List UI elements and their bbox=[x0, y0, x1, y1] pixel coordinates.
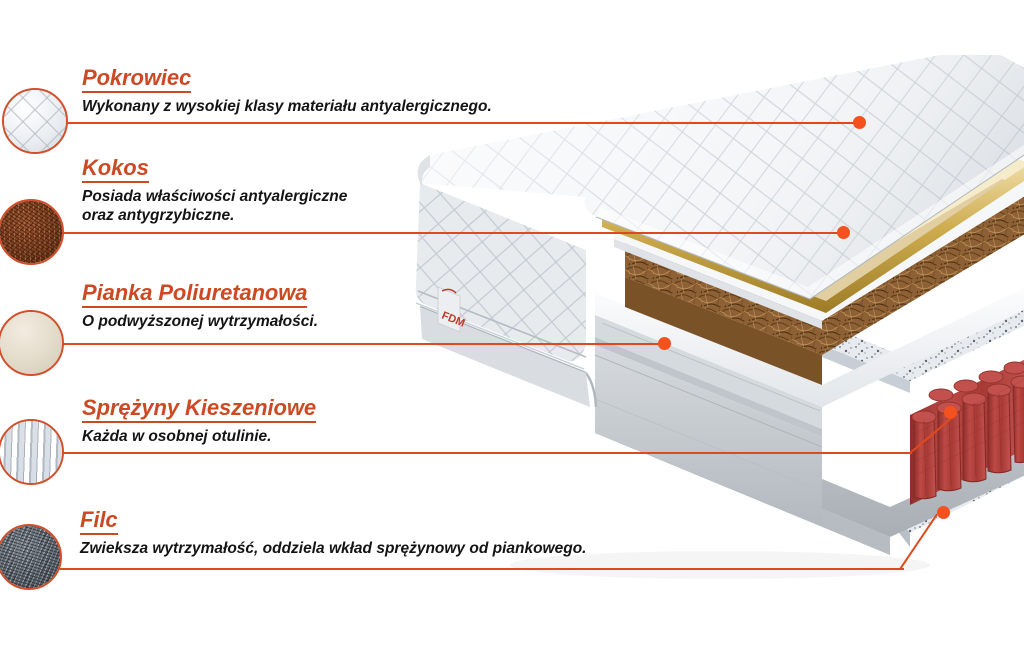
callout-dot-filc bbox=[937, 506, 950, 519]
swatch-pokrowiec bbox=[2, 88, 68, 154]
layer-description-pianka-poliuretanowa: O podwyższonej wytrzymałości. bbox=[82, 312, 318, 331]
label-block-pianka-poliuretanowa: Pianka Poliuretanowa O podwyższonej wytr… bbox=[82, 281, 318, 331]
felt-swatch-icon bbox=[0, 526, 60, 588]
callout-line-pokrowiec bbox=[64, 122, 860, 124]
layer-description-kokos: Posiada właściwości antyalergiczne oraz … bbox=[82, 187, 347, 226]
swatch-filc bbox=[0, 524, 62, 590]
swatch-sprezyny-kieszeniowe bbox=[0, 419, 64, 485]
layer-title-kokos: Kokos bbox=[82, 156, 149, 183]
swatch-pianka-poliuretanowa bbox=[0, 310, 64, 376]
callout-dot-kokos bbox=[837, 226, 850, 239]
callout-dot-sprezyny bbox=[944, 406, 957, 419]
label-block-sprezyny-kieszeniowe: Sprężyny Kieszeniowe Każda w osobnej otu… bbox=[82, 396, 316, 446]
layer-title-filc: Filc bbox=[80, 508, 118, 535]
pocket-springs-swatch-icon bbox=[0, 421, 62, 483]
callout-line-filc bbox=[58, 568, 904, 570]
label-block-pokrowiec: Pokrowiec Wykonany z wysokiej klasy mate… bbox=[82, 66, 492, 116]
label-block-filc: Filc Zwieksza wytrzymałość, oddziela wkł… bbox=[80, 508, 586, 558]
callout-line-kokos bbox=[58, 232, 844, 234]
quilted-fabric-swatch-icon bbox=[4, 90, 66, 152]
layer-description-filc: Zwieksza wytrzymałość, oddziela wkład sp… bbox=[80, 539, 586, 558]
callout-dot-pianka bbox=[658, 337, 671, 350]
callout-dot-pokrowiec bbox=[853, 116, 866, 129]
callout-line-sprezyny bbox=[60, 452, 912, 454]
layer-title-sprezyny-kieszeniowe: Sprężyny Kieszeniowe bbox=[82, 396, 316, 423]
callout-line-pianka bbox=[58, 343, 664, 345]
layer-description-sprezyny-kieszeniowe: Każda w osobnej otulinie. bbox=[82, 427, 316, 446]
swatch-kokos bbox=[0, 199, 64, 265]
layer-title-pianka-poliuretanowa: Pianka Poliuretanowa bbox=[82, 281, 307, 308]
coconut-fiber-swatch-icon bbox=[0, 201, 62, 263]
label-block-kokos: Kokos Posiada właściwości antyalergiczne… bbox=[82, 156, 347, 226]
layer-title-pokrowiec: Pokrowiec bbox=[82, 66, 191, 93]
layer-diagram-page: FDM Pokrowiec Wykonany z wysokiej klasy … bbox=[0, 0, 1024, 657]
layer-description-pokrowiec: Wykonany z wysokiej klasy materiału anty… bbox=[82, 97, 492, 116]
polyurethane-foam-swatch-icon bbox=[0, 312, 62, 374]
